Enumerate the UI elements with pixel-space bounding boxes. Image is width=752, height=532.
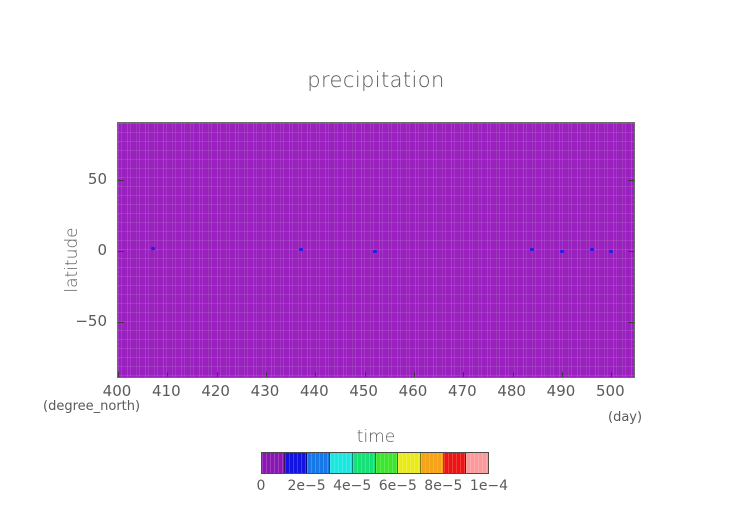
x-tick-label: 400 [103,382,132,400]
x-tick-label: 470 [448,382,477,400]
colorbar-band [307,453,330,473]
colorbar-band [421,453,444,473]
x-tick-mark [562,372,563,377]
heatmap-anomaly-cell [590,248,594,251]
colorbar-band [285,453,308,473]
x-tick-label: 490 [547,382,576,400]
y-tick-mark [118,251,124,252]
colorbar-band [353,453,376,473]
x-tick-mark [513,372,514,377]
colorbar-tick-label: 2e−5 [288,478,326,494]
colorbar-tick-label: 6e−5 [379,478,417,494]
x-tick-mark [463,372,464,377]
colorbar-band [444,453,467,473]
heatmap-plot-area [117,122,635,378]
colorbar-band [398,453,421,473]
x-tick-label: 450 [349,382,378,400]
x-tick-label: 430 [251,382,280,400]
y-axis-unit: (degree_north) [43,399,140,414]
y-tick-mark-right [628,251,634,252]
heatmap-anomaly-cell [560,250,564,253]
x-tick-label: 480 [497,382,526,400]
heatmap-anomaly-cell [609,250,613,253]
colorbar-band [262,453,285,473]
heatmap-anomaly-cell [530,248,534,251]
x-axis-title: time [0,427,752,447]
x-tick-label: 440 [300,382,329,400]
heatmap-anomaly-cell [299,248,303,251]
colorbar-band [466,453,488,473]
x-tick-mark [266,372,267,377]
y-tick-mark-right [628,180,634,181]
x-tick-mark [315,372,316,377]
x-tick-mark [217,372,218,377]
x-tick-label: 410 [152,382,181,400]
colorbar-tick-label: 4e−5 [333,478,371,494]
x-tick-label: 460 [399,382,428,400]
heatmap-anomaly-cell [373,250,377,253]
colorbar [261,452,489,474]
colorbar-band [376,453,399,473]
x-tick-mark [167,372,168,377]
precipitation-figure: precipitation 40041042043044045046047048… [0,0,752,532]
x-tick-mark [365,372,366,377]
heatmap-anomaly-cell [151,247,155,250]
colorbar-tick-label: 8e−5 [424,478,462,494]
y-tick-mark [118,322,124,323]
colorbar-band [330,453,353,473]
x-tick-label: 500 [596,382,625,400]
colorbar-tick-label: 0 [257,478,266,494]
y-axis-title: latitude [62,180,82,340]
x-tick-mark [414,372,415,377]
x-tick-mark [611,372,612,377]
y-tick-mark-right [628,322,634,323]
colorbar-tick-label: 1e−4 [470,478,508,494]
x-tick-label: 420 [201,382,230,400]
x-axis-unit: (day) [608,410,642,425]
chart-title: precipitation [0,68,752,92]
x-tick-mark [118,372,119,377]
y-tick-mark [118,180,124,181]
